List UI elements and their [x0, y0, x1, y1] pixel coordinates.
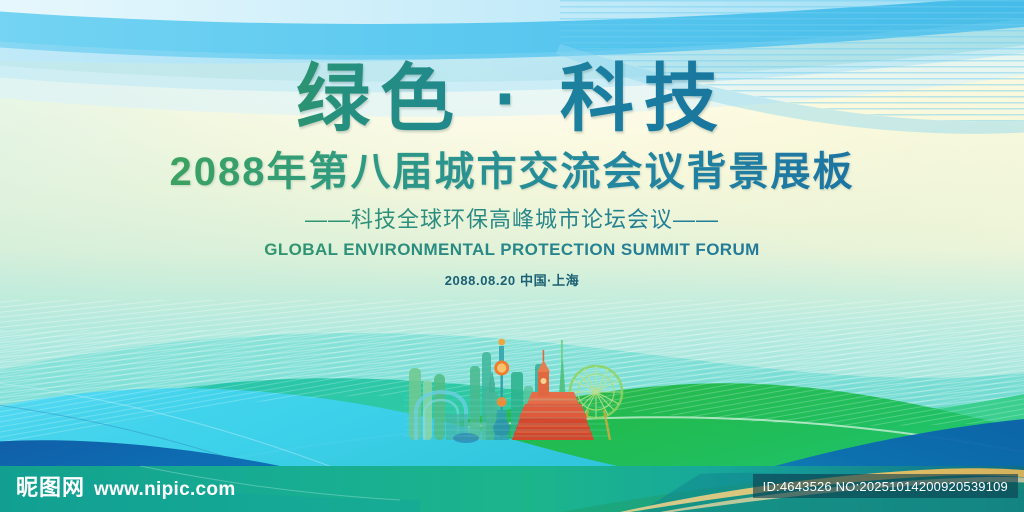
nipic-logo-text: 昵图网	[16, 475, 85, 501]
image-id-badge: ID:4643526 NO:20251014200920539109	[753, 474, 1018, 498]
nipic-url-text[interactable]: www.nipic.com	[94, 477, 236, 503]
tagline-chinese: ——科技全球环保高峰城市论坛会议——	[0, 206, 1024, 234]
date-and-location: 2088.08.20 中国·上海	[0, 272, 1024, 290]
watermark-brand: 昵图网 www.nipic.com	[16, 475, 236, 503]
tagline-english: GLOBAL ENVIRONMENTAL PROTECTION SUMMIT F…	[0, 239, 1024, 261]
watermark-bar: 昵图网 www.nipic.com ID:4643526 NO:20251014…	[0, 466, 1024, 512]
poster-canvas: 绿色 · 科技 2088年第八届城市交流会议背景展板 ——科技全球环保高峰城市论…	[0, 0, 1024, 512]
page-title: 绿色 · 科技	[0, 56, 1024, 142]
subtitle: 2088年第八届城市交流会议背景展板	[0, 148, 1024, 196]
poster-content: 绿色 · 科技 2088年第八届城市交流会议背景展板 ——科技全球环保高峰城市论…	[0, 0, 1024, 512]
